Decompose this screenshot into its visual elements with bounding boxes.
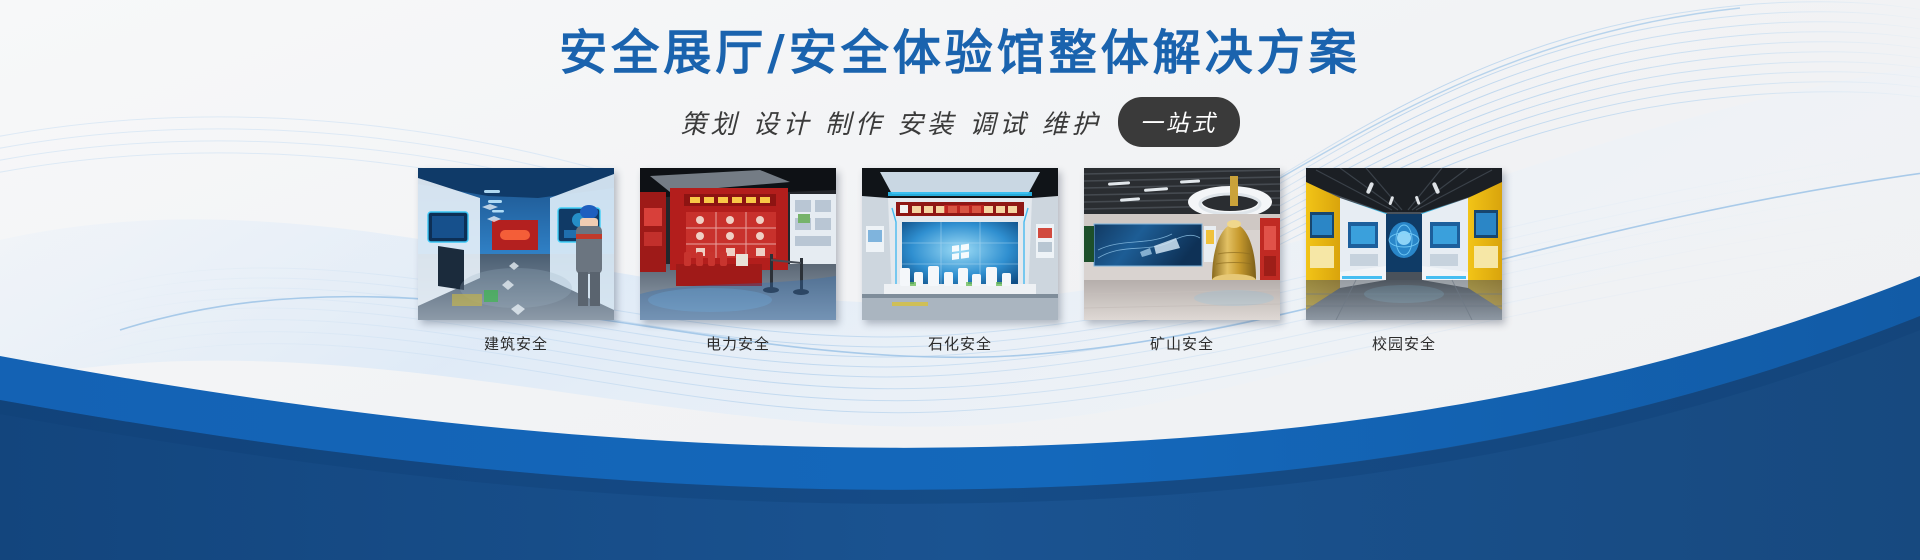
one-stop-badge: 一站式	[1118, 97, 1240, 147]
page-title: 安全展厅/安全体验馆整体解决方案	[0, 0, 1920, 81]
bottom-blue-wave-decoration	[0, 260, 1920, 560]
safety-exhibition-banner: 安全展厅/安全体验馆整体解决方案 策划 设计 制作 安装 调试 维护 一站式	[0, 0, 1920, 560]
headline-block: 安全展厅/安全体验馆整体解决方案 策划 设计 制作 安装 调试 维护 一站式	[0, 0, 1920, 147]
subtitle-row: 策划 设计 制作 安装 调试 维护 一站式	[0, 97, 1920, 147]
service-steps-text: 策划 设计 制作 安装 调试 维护	[680, 104, 1101, 141]
